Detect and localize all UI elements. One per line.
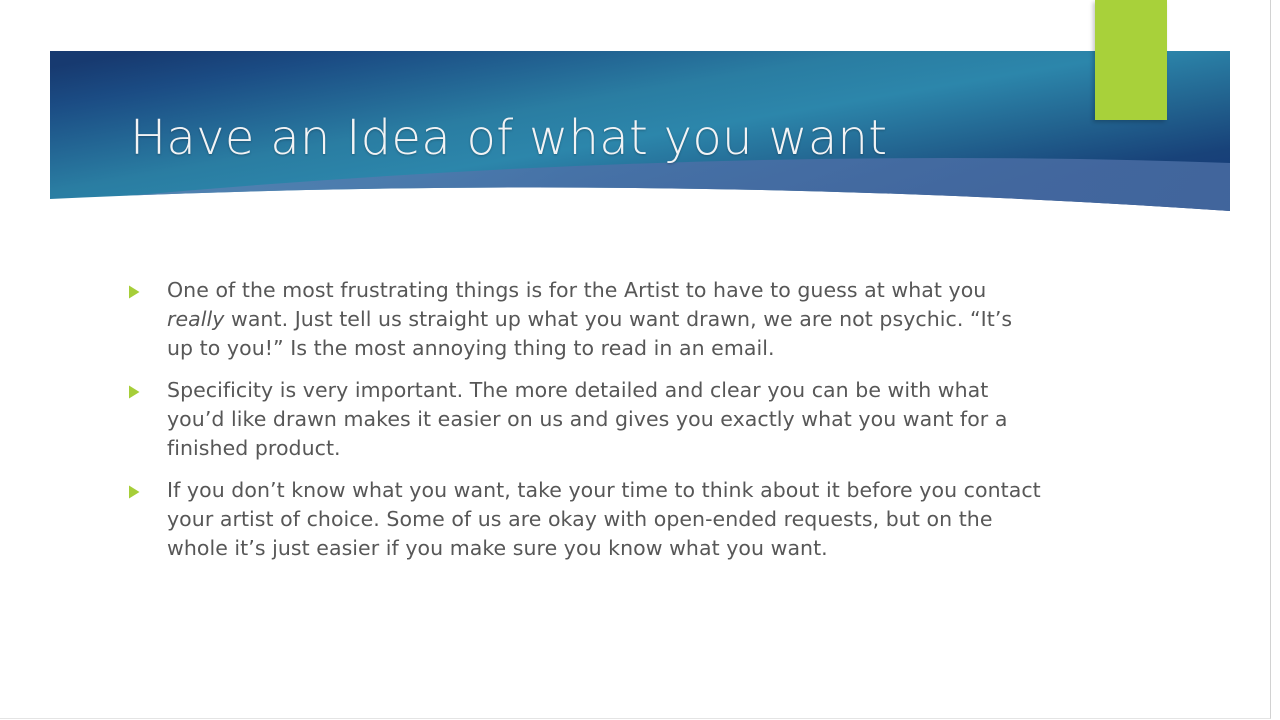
triangle-right-icon (126, 476, 167, 500)
triangle-right-icon (126, 376, 167, 400)
list-item: Specificity is very important. The more … (126, 376, 1042, 463)
list-item: One of the most frustrating things is fo… (126, 276, 1042, 363)
page-title: Have an Idea of what you want (130, 107, 1070, 169)
list-item-text: If you don’t know what you want, take yo… (167, 476, 1042, 563)
green-accent-rectangle (1095, 0, 1167, 120)
list-item-text: One of the most frustrating things is fo… (167, 276, 1042, 363)
bullet-list: One of the most frustrating things is fo… (126, 276, 1042, 563)
list-item-text: Specificity is very important. The more … (167, 376, 1042, 463)
triangle-right-icon (126, 276, 167, 300)
slide-canvas: Have an Idea of what you want One of the… (0, 0, 1280, 720)
list-item: If you don’t know what you want, take yo… (126, 476, 1042, 563)
